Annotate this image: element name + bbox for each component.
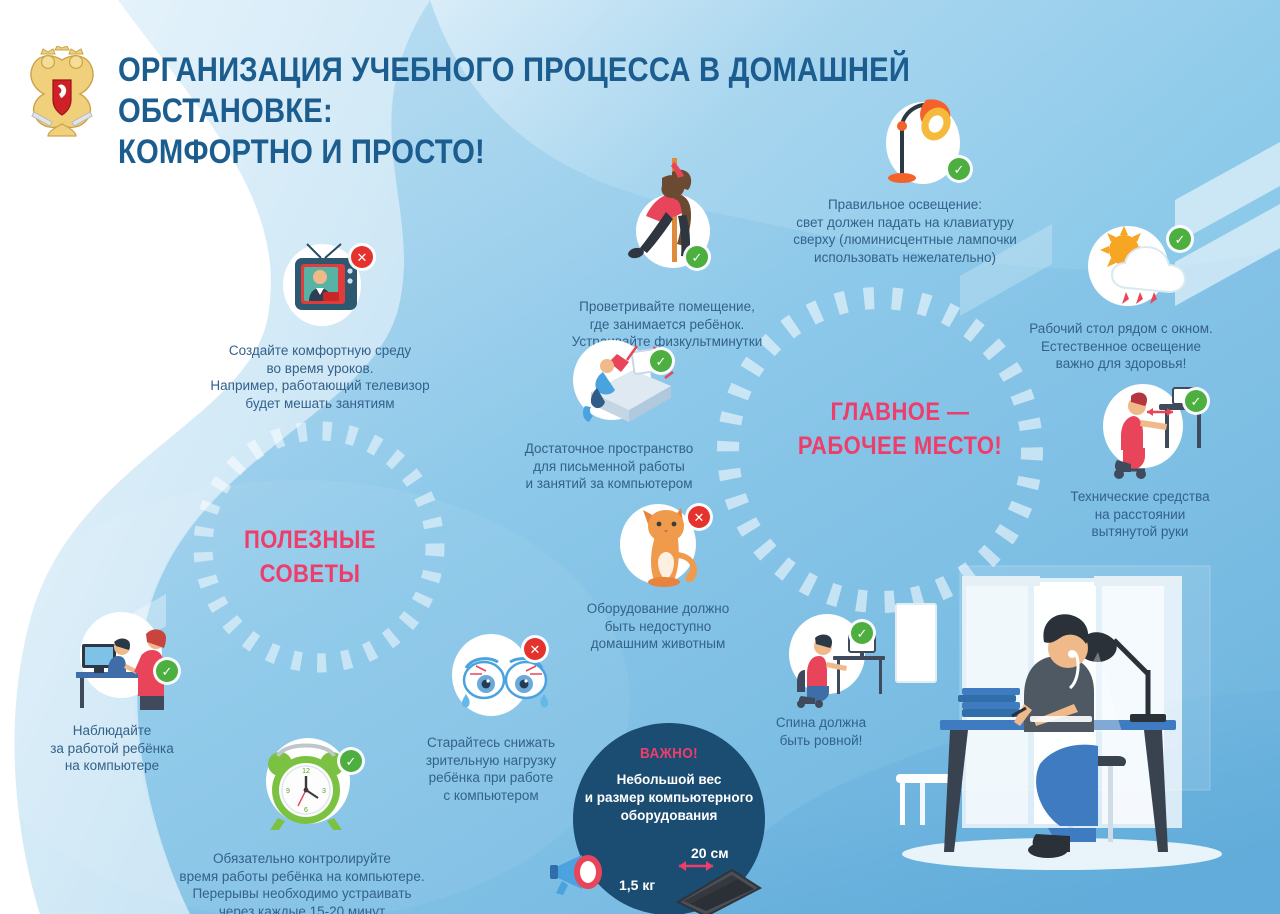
tip-eye-strain: ✕ Старайтесь снижать зрительную нагрузку… — [398, 630, 584, 804]
tip-time-limit-text: Обязательно контролируйте время работы р… — [158, 850, 446, 914]
student-at-desk-illustration — [862, 556, 1280, 914]
badge-ok-arm-reach: ✓ — [1185, 390, 1207, 412]
tired-eyes-icon — [446, 638, 566, 726]
tip-tv: ✕ Создайте комфортную среду во время уро… — [180, 240, 460, 412]
badge-no-pets: ✕ — [688, 506, 710, 528]
tip-arm-reach-text: Технические средства на расстоянии вытян… — [1036, 488, 1244, 541]
infographic-poster: ОРГАНИЗАЦИЯ УЧЕБНОГО ПРОЦЕССА В ДОМАШНЕЙ… — [0, 0, 1280, 914]
important-title: ВАЖНО! — [583, 745, 756, 762]
badge-ok-supervise: ✓ — [156, 660, 178, 682]
svg-text:12: 12 — [302, 768, 310, 775]
sun-cloud-icon — [1082, 222, 1212, 312]
tip-desk-space: ✓ Достаточное пространство для письменно… — [488, 336, 730, 493]
tip-tv-text: Создайте комфортную среду во время уроко… — [180, 342, 460, 412]
badge-ok-desk-space: ✓ — [650, 350, 672, 372]
svg-text:9: 9 — [286, 788, 290, 795]
badge-no-eye-strain: ✕ — [524, 638, 546, 660]
tip-eye-strain-text: Старайтесь снижать зрительную нагрузку р… — [398, 734, 584, 804]
stretching-person-icon — [622, 158, 742, 288]
badge-ok-lamp: ✓ — [948, 158, 970, 180]
alarm-clock-icon: 12 3 6 9 — [254, 736, 380, 840]
section-heading-useful-tips: ПОЛЕЗНЫЕ СОВЕТЫ — [218, 523, 403, 591]
important-body: Небольшой вес и размер компьютерного обо… — [579, 771, 759, 825]
badge-ok-exercise: ✓ — [686, 246, 708, 268]
tip-desk-space-text: Достаточное пространство для письменной … — [488, 440, 730, 493]
important-weight-label: 1,5 кг — [619, 877, 655, 893]
tip-exercise: ✓ Проветривайте помещение, где занимаетс… — [542, 158, 792, 351]
svg-text:6: 6 — [304, 807, 308, 814]
section-heading-main-workplace: ГЛАВНОЕ — РАБОЧЕЕ МЕСТО! — [777, 395, 1023, 463]
badge-no-tv: ✕ — [351, 246, 373, 268]
badge-ok-window: ✓ — [1169, 228, 1191, 250]
tip-window: ✓ Рабочий стол рядом с окном. Естественн… — [985, 222, 1257, 373]
russian-federation-emblem — [22, 46, 102, 138]
tablet-icon — [660, 858, 770, 914]
desk-lamp-icon — [884, 96, 994, 188]
badge-ok-time-limit: ✓ — [340, 750, 362, 772]
desk-workspace-icon — [559, 336, 699, 432]
tip-window-text: Рабочий стол рядом с окном. Естественное… — [985, 320, 1257, 373]
megaphone-icon — [548, 845, 618, 901]
svg-text:3: 3 — [322, 788, 326, 795]
tip-arm-reach: ✓ Технические средства на расстоянии выт… — [1036, 382, 1244, 541]
